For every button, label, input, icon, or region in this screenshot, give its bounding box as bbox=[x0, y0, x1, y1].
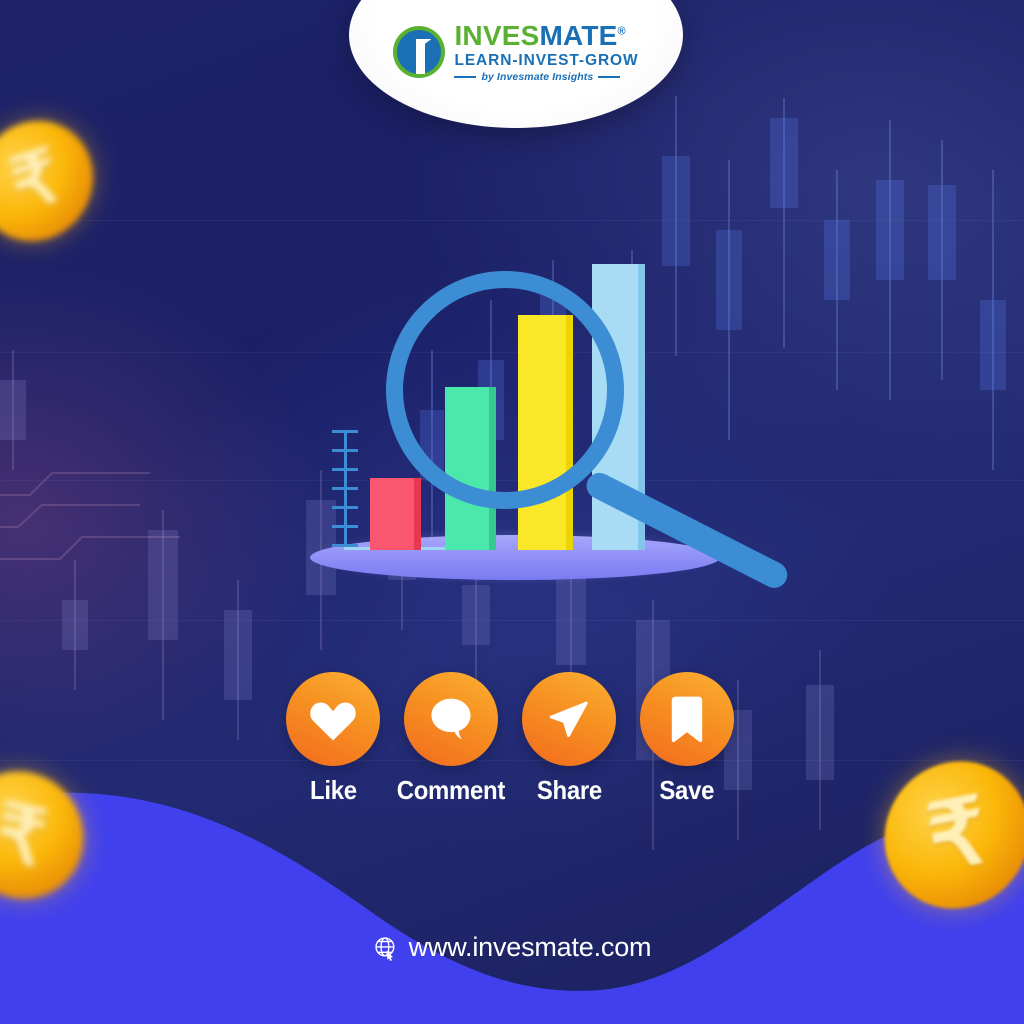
comment-label: Comment bbox=[397, 775, 505, 806]
bookmark-icon bbox=[667, 695, 707, 743]
invesmate-logo-mark-icon bbox=[393, 26, 445, 78]
website-url-text: www.invesmate.com bbox=[409, 932, 652, 963]
like-label: Like bbox=[310, 775, 357, 806]
byline-dash-right bbox=[598, 76, 620, 78]
background-candle bbox=[148, 510, 178, 720]
magnifier-ring bbox=[386, 271, 624, 509]
brand-tagline: LEARN-INVEST-GROW bbox=[454, 53, 638, 69]
save-button[interactable] bbox=[640, 672, 734, 766]
share-label: Share bbox=[536, 775, 601, 806]
axis-tick bbox=[332, 468, 358, 471]
registered-mark: ® bbox=[618, 26, 626, 38]
logo-name-part1: INVES bbox=[454, 20, 539, 51]
like-button[interactable] bbox=[286, 672, 380, 766]
comment-button[interactable] bbox=[404, 672, 498, 766]
axis-tick bbox=[332, 506, 358, 509]
coin-top-left: ₹ bbox=[0, 105, 106, 256]
social-action-share[interactable]: Share bbox=[522, 672, 616, 806]
axis-tick bbox=[332, 525, 358, 528]
axis-tick bbox=[332, 487, 358, 490]
comment-bubble-icon bbox=[426, 694, 476, 744]
background-candle bbox=[980, 170, 1006, 470]
brand-logo-badge: INVESMATE® LEARN-INVEST-GROW by Invesmat… bbox=[349, 0, 683, 128]
background-gridline bbox=[0, 220, 1024, 221]
logo-name-part2: MATE bbox=[539, 20, 617, 51]
social-action-save[interactable]: Save bbox=[640, 672, 734, 806]
rupee-symbol: ₹ bbox=[4, 138, 67, 224]
magnifier-bar-chart-illustration bbox=[300, 255, 860, 585]
globe-cursor-icon bbox=[373, 935, 399, 961]
background-candle bbox=[0, 350, 26, 470]
paper-plane-icon bbox=[545, 695, 593, 743]
heart-icon bbox=[308, 696, 358, 742]
social-post-canvas: INVESMATE® LEARN-INVEST-GROW by Invesmat… bbox=[0, 0, 1024, 1024]
share-button[interactable] bbox=[522, 672, 616, 766]
circuit-lines-decoration bbox=[0, 455, 220, 585]
social-actions-row: Like Comment Share S bbox=[286, 672, 734, 806]
background-candle bbox=[62, 560, 88, 690]
brand-byline: by Invesmate Insights bbox=[481, 72, 593, 83]
social-action-like[interactable]: Like bbox=[286, 672, 380, 806]
byline-dash-left bbox=[454, 76, 476, 78]
footer-website[interactable]: www.invesmate.com bbox=[0, 932, 1024, 963]
background-candle bbox=[224, 580, 252, 740]
axis-vertical-line bbox=[344, 430, 347, 550]
background-gridline bbox=[0, 620, 1024, 621]
save-label: Save bbox=[660, 775, 715, 806]
social-action-comment[interactable]: Comment bbox=[404, 672, 498, 806]
brand-logo-text: INVESMATE® LEARN-INVEST-GROW by Invesmat… bbox=[454, 22, 638, 82]
rupee-symbol: ₹ bbox=[0, 791, 52, 879]
chart-bar-1 bbox=[370, 478, 414, 550]
axis-tick bbox=[332, 449, 358, 452]
axis-tick bbox=[332, 430, 358, 433]
chart-axis bbox=[328, 430, 362, 550]
background-candle bbox=[876, 120, 904, 400]
background-candle bbox=[928, 140, 956, 380]
rupee-symbol: ₹ bbox=[922, 784, 992, 886]
